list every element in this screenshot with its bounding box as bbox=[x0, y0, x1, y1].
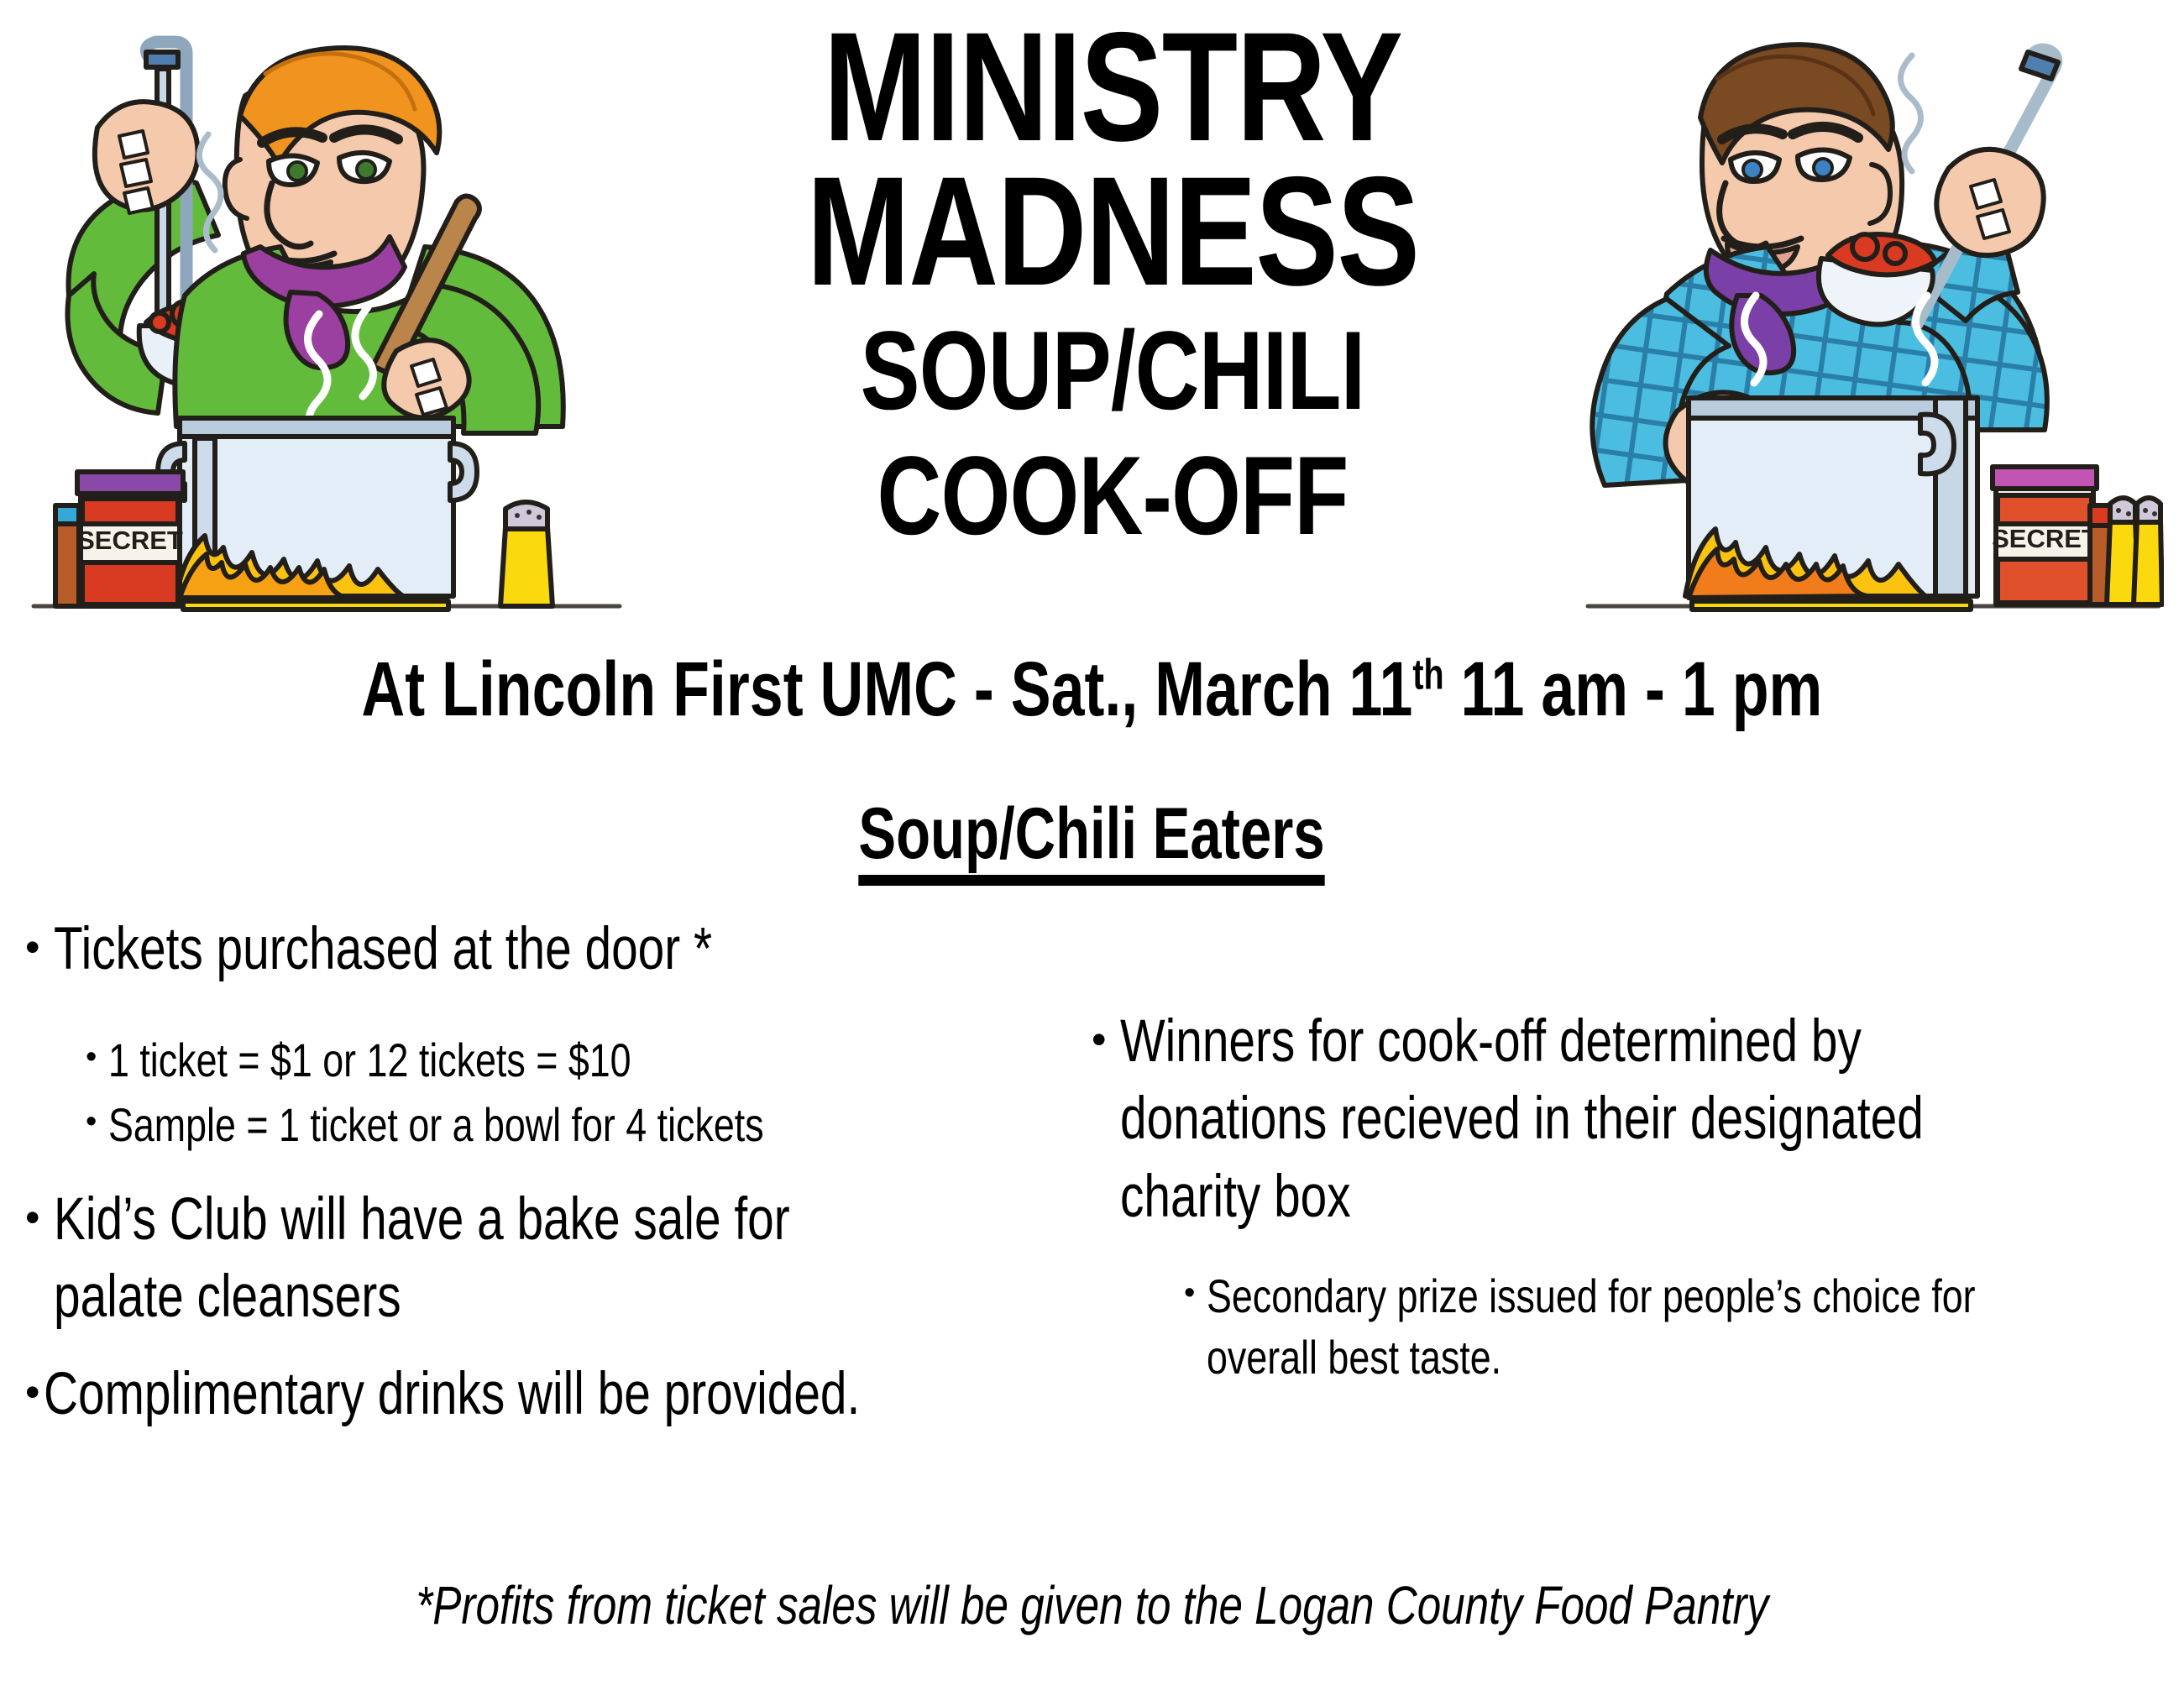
right-chef-illustration: SECRET bbox=[1583, 18, 2164, 623]
bullet-marker: • bbox=[25, 911, 54, 985]
list-item: • 1 ticket = $1 or 12 tickets = $10 bbox=[86, 1030, 1108, 1091]
flyer-page: SECRET MINISTRY MADNESS SOUP/CHILI COOK-… bbox=[0, 0, 2184, 1706]
list-item-label: Tickets purchased at the door * bbox=[54, 911, 898, 988]
bullet-marker: • bbox=[25, 1181, 54, 1255]
list-item-label: Winners for cook-off determined by donat… bbox=[1120, 1003, 1964, 1236]
subtitle-line-2: COOK-OFF bbox=[733, 439, 1492, 554]
title-block: MINISTRY MADNESS SOUP/CHILI COOK-OFF bbox=[638, 15, 1587, 554]
secret-jar-label-left: SECRET bbox=[77, 526, 183, 555]
left-column: • Tickets purchased at the door * • 1 ti… bbox=[25, 911, 1108, 1442]
bullet-marker: • bbox=[86, 1030, 108, 1085]
dateline-ordinal: th bbox=[1413, 650, 1444, 698]
event-dateline: At Lincoln First UMC - Sat., March 11th … bbox=[0, 651, 2184, 728]
right-column: • Winners for cook-off determined by don… bbox=[1092, 1003, 2175, 1391]
flyer-header: SECRET MINISTRY MADNESS SOUP/CHILI COOK-… bbox=[0, 0, 2184, 625]
title-line-2: MADNESS bbox=[733, 160, 1492, 304]
footer-note-text: *Profits from ticket sales will be given… bbox=[416, 1578, 1768, 1632]
list-item-label: Sample = 1 ticket or a bowl for 4 ticket… bbox=[108, 1095, 909, 1156]
left-chef-illustration: SECRET bbox=[20, 18, 633, 623]
bullet-marker: • bbox=[1184, 1266, 1207, 1321]
list-item: • Secondary prize issued for people’s ch… bbox=[1184, 1266, 2175, 1389]
list-item: • Tickets purchased at the door * bbox=[25, 911, 1108, 988]
list-item-label: Secondary prize issued for people’s choi… bbox=[1207, 1266, 1981, 1389]
list-item-label: Complimentary drinks will be provided. bbox=[44, 1356, 896, 1433]
list-item: • Complimentary drinks will be provided. bbox=[25, 1356, 1108, 1433]
list-item: • Sample = 1 ticket or a bowl for 4 tick… bbox=[86, 1095, 1108, 1156]
list-item-label: Kid’s Club will have a bake sale for pal… bbox=[54, 1181, 898, 1337]
dateline-prefix: At Lincoln First UMC - Sat., March 11 bbox=[362, 646, 1413, 732]
dateline-suffix: 11 am - 1 pm bbox=[1444, 646, 1823, 732]
list-item: • Winners for cook-off determined by don… bbox=[1092, 1003, 2175, 1236]
section-heading: Soup/Chili Eaters bbox=[0, 798, 2184, 886]
bullet-marker: • bbox=[86, 1095, 108, 1149]
list-item: • Kid’s Club will have a bake sale for p… bbox=[25, 1181, 1108, 1337]
title-line-1: MINISTRY bbox=[733, 15, 1492, 160]
subtitle-line-1: SOUP/CHILI bbox=[733, 314, 1492, 429]
bullet-marker: • bbox=[25, 1356, 44, 1430]
section-heading-text: Soup/Chili Eaters bbox=[859, 798, 1325, 886]
body-columns: • Tickets purchased at the door * • 1 ti… bbox=[0, 911, 2184, 1574]
list-item-label: 1 ticket = $1 or 12 tickets = $10 bbox=[108, 1030, 909, 1091]
footer-note: *Profits from ticket sales will be given… bbox=[0, 1578, 2184, 1632]
bullet-marker: • bbox=[1092, 1003, 1120, 1077]
secret-jar-label-right: SECRET bbox=[1992, 524, 2098, 553]
